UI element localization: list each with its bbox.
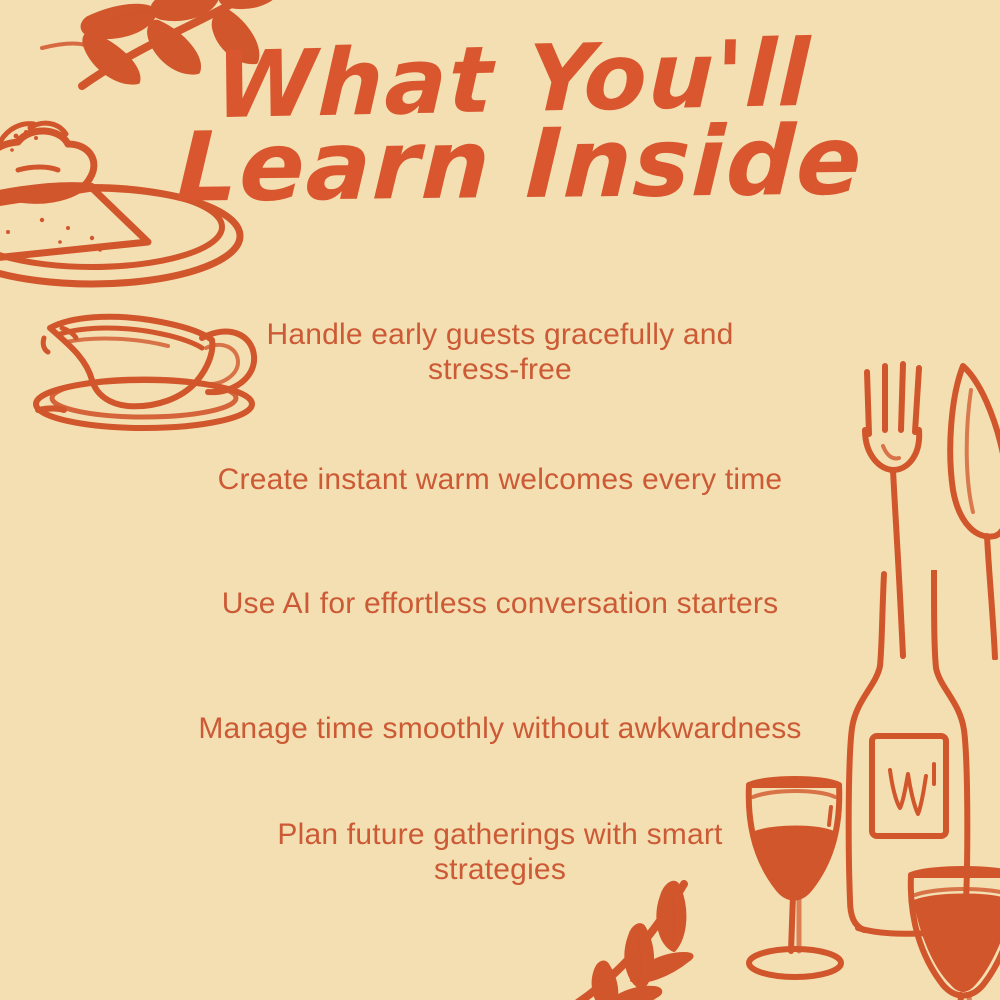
list-item: Create instant warm welcomes every time bbox=[90, 463, 910, 498]
wine-glass-right-icon bbox=[905, 865, 1000, 1000]
title-line-2: Learn Inside bbox=[38, 113, 1000, 215]
list-item: Use AI for effortless conversation start… bbox=[90, 587, 910, 622]
branch-leaves-bottom-icon bbox=[560, 880, 780, 1000]
list-item: Manage time smoothly without awkwardness bbox=[90, 712, 910, 747]
list-item: Handle early guests gracefully and stres… bbox=[90, 318, 910, 388]
list-item-text: Create instant warm welcomes every time bbox=[90, 463, 910, 498]
list-item-text: Plan future gatherings with smart strate… bbox=[240, 818, 760, 888]
list-item-text: Handle early guests gracefully and stres… bbox=[220, 318, 780, 388]
wine-bottle-icon bbox=[838, 570, 988, 1000]
poster-title: What You'll Learn Inside bbox=[0, 36, 1000, 210]
list-item: Plan future gatherings with smart strate… bbox=[90, 818, 910, 888]
list-item-text: Use AI for effortless conversation start… bbox=[90, 587, 910, 622]
list-item-text: Manage time smoothly without awkwardness bbox=[90, 712, 910, 747]
poster-canvas: What You'll Learn Inside Handle early gu… bbox=[0, 0, 1000, 1000]
